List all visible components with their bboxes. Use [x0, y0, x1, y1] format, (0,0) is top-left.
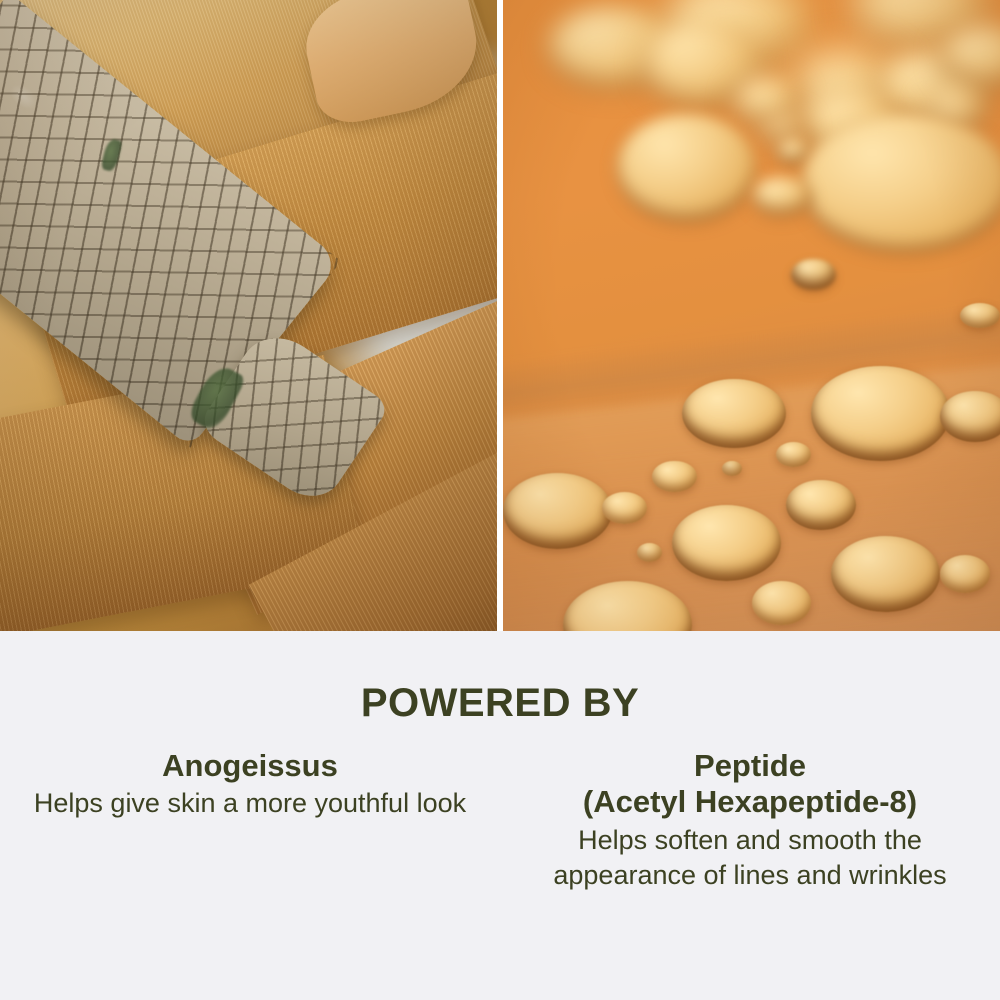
oil-droplet: [617, 114, 756, 221]
oil-droplet: [682, 379, 786, 448]
ingredient-description: Helps give skin a more youthful look: [18, 786, 482, 821]
ingredient-name: Anogeissus: [18, 748, 482, 784]
oil-droplets-photo: [503, 0, 1000, 631]
powered-by-heading: POWERED BY: [0, 683, 1000, 723]
ingredient-name-line-2: (Acetyl Hexapeptide-8): [506, 784, 994, 820]
oil-droplet: [672, 505, 781, 581]
oil-droplet: [752, 581, 812, 625]
ingredient-name-line-1: Peptide: [506, 748, 994, 784]
media-strip: [0, 0, 1000, 631]
oil-droplet: [831, 536, 940, 612]
oil-droplet: [503, 473, 612, 549]
oil-droplet: [776, 442, 811, 467]
ingredient-description: Helps soften and smooth the appearance o…: [506, 823, 994, 893]
oil-droplet: [602, 492, 647, 524]
oil-droplet: [722, 461, 742, 477]
bark-photo: [0, 0, 497, 631]
powered-by-panel: POWERED BY Anogeissus Helps give skin a …: [0, 631, 1000, 1000]
ingredient-column-anogeissus: Anogeissus Helps give skin a more youthf…: [0, 748, 500, 821]
oil-droplet: [940, 391, 1000, 441]
ingredients-columns: Anogeissus Helps give skin a more youthf…: [0, 748, 1000, 893]
oil-droplet: [791, 259, 836, 291]
oil-droplet: [960, 303, 1000, 328]
oil-droplet: [811, 366, 950, 461]
ingredient-highlight-card: POWERED BY Anogeissus Helps give skin a …: [0, 0, 1000, 1000]
ingredient-name: Peptide (Acetyl Hexapeptide-8): [506, 748, 994, 821]
oil-droplet: [940, 555, 990, 593]
oil-droplet: [752, 177, 812, 215]
oil-droplet: [637, 543, 662, 562]
oil-droplet: [801, 114, 1000, 253]
ingredient-column-peptide: Peptide (Acetyl Hexapeptide-8) Helps sof…: [500, 748, 1000, 893]
oil-droplet: [652, 461, 697, 493]
oil-droplet: [786, 480, 856, 530]
